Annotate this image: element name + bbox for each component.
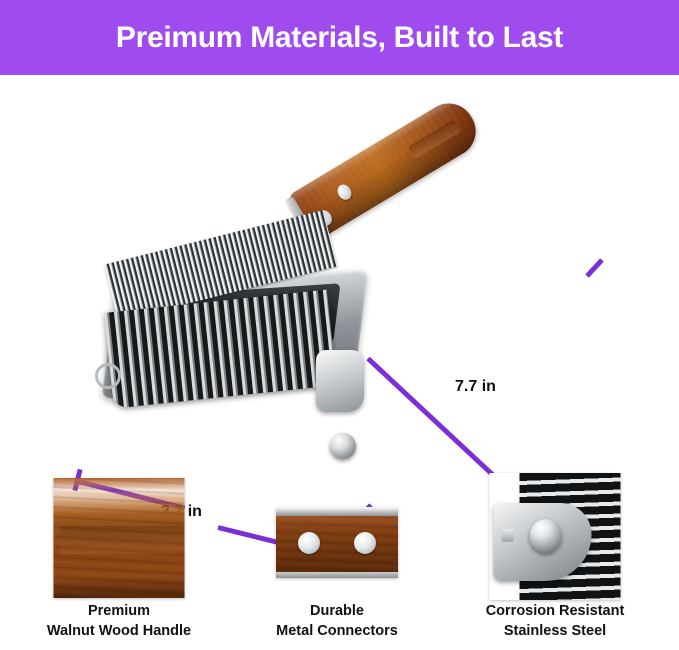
feature-caption-stainless-steel: Corrosion Resistant Stainless Steel [442,602,668,641]
feature-caption-line-2: Metal Connectors [224,622,450,642]
feature-caption-metal-connectors: Durable Metal Connectors [224,602,450,641]
feature-panel-stainless-steel: Corrosion Resistant Stainless Steel [442,470,668,650]
feature-caption-line-1: Corrosion Resistant [442,602,668,622]
comb-head-hang-loop-icon [95,363,121,389]
comb-head-bolt-icon [330,433,356,459]
wood-engraving-detail [60,526,184,554]
connector-rivet-icon [354,532,376,554]
feature-panel-row: Premium Walnut Wood Handle Durable Metal… [0,470,679,650]
hero-product-stage: 7.7 in 3.7 in [0,75,679,470]
connector-rivet-icon [298,532,320,554]
feature-caption-line-2: Walnut Wood Handle [6,622,232,642]
connector-metal-rail-bottom [276,572,398,578]
steel-bolt-icon [530,519,562,553]
feature-caption-wood-handle: Premium Walnut Wood Handle [6,602,232,641]
steel-bracket-tab [502,529,514,542]
comb-head-end-cap [316,350,364,412]
feature-caption-line-1: Durable [224,602,450,622]
feature-caption-line-1: Premium [6,602,232,622]
dimension-label-length: 7.7 in [455,378,496,396]
feature-panel-metal-connectors: Durable Metal Connectors [224,470,450,650]
stainless-steel-thumbnail [490,473,621,600]
page-title: Preimum Materials, Built to Last [116,21,563,55]
wood-grain-thumbnail [54,478,185,598]
metal-connectors-thumbnail [276,507,398,578]
handle-brand-engraving [408,119,461,159]
connector-metal-rail-top [276,507,398,516]
handle-rivet-icon [335,182,354,202]
header-banner: Preimum Materials, Built to Last [0,0,679,75]
feature-panel-wood-handle: Premium Walnut Wood Handle [6,470,232,650]
feature-caption-line-2: Stainless Steel [442,622,668,642]
product-infographic: Preimum Materials, Built to Last 7.7 in [0,0,679,650]
dimension-cap-length-top [585,258,604,277]
